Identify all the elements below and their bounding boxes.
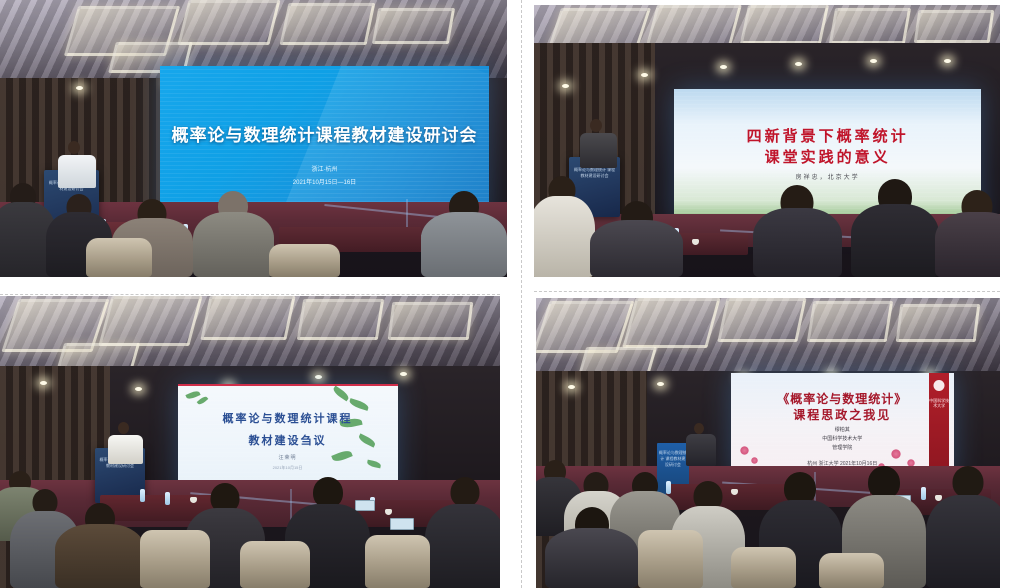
speaker-body xyxy=(686,434,716,466)
ceiling-light-panel xyxy=(829,8,911,44)
slide-byline-sub: 2021年10月15日 xyxy=(178,465,398,471)
ceiling-light-panel xyxy=(914,10,995,43)
ceiling-light-panel xyxy=(536,301,634,353)
speaker-head xyxy=(694,423,704,434)
ceiling-light-panel xyxy=(807,301,894,342)
slide-title-line1: 四新背景下概率统计 xyxy=(674,125,982,146)
ceiling-light-panel xyxy=(279,3,375,45)
slide-byline-org2: 管理学院 xyxy=(731,444,954,451)
laptop xyxy=(390,518,414,530)
banner-text: 概率论与数理统计 课程教材建设研讨会 xyxy=(659,450,688,468)
horizontal-separator-right xyxy=(534,291,1000,292)
ceiling-light-panel xyxy=(297,299,384,340)
ceiling-light-panel xyxy=(177,0,280,45)
ceiling-light-panel xyxy=(740,5,829,44)
ceiling-spotlight xyxy=(135,387,142,391)
speaker-head xyxy=(118,422,129,434)
audience-member xyxy=(545,507,638,588)
audience-member xyxy=(193,191,274,277)
ceiling-light-panel xyxy=(200,296,295,340)
slide-title-line2: 教材建设刍议 xyxy=(178,432,398,448)
slide-subtitle-location: 浙江·杭州 xyxy=(160,164,490,173)
photo-bottom-left[interactable]: 概率论与数理统计课程 教材建设刍议 汪荣明 2021年10月15日 概率论与数理… xyxy=(0,296,500,588)
ceiling-light-panel xyxy=(372,8,455,44)
water-bottle xyxy=(140,489,145,502)
ceiling-light-panel xyxy=(622,298,720,348)
audience-member xyxy=(851,179,940,277)
slide-byline: 汪荣明 xyxy=(178,454,398,461)
chair xyxy=(269,244,340,277)
university-logo-icon xyxy=(934,380,945,391)
vertical-separator xyxy=(521,0,522,588)
chair xyxy=(365,535,430,588)
ceiling-light-panel xyxy=(717,298,807,342)
ceiling-light-panel xyxy=(98,296,202,346)
slide-title: 概率论与数理统计课程教材建设研讨会 xyxy=(160,121,490,146)
chair xyxy=(731,547,796,588)
slide-title-line2: 课程思政之我见 xyxy=(731,406,954,423)
ceiling-spotlight xyxy=(76,86,83,90)
audience-member xyxy=(926,466,1000,588)
chair xyxy=(638,530,703,588)
photo-bottom-right[interactable]: 中国科学技术大学 《概率论与数理统计》 课程思政之我见 缪柏其 中国科学技术大学… xyxy=(536,298,1000,588)
photo-top-left[interactable]: 概率论与数理统计课程教材建设研讨会 浙江·杭州 2021年10月15日—16日 … xyxy=(0,0,507,277)
ceiling-spotlight xyxy=(657,382,664,386)
slide-title-line2: 课堂实践的意义 xyxy=(674,146,982,167)
ceiling-spotlight xyxy=(562,84,569,88)
ceiling-light-panel xyxy=(388,302,474,340)
speaker-body xyxy=(580,133,617,168)
ceiling-spotlight xyxy=(40,381,47,385)
audience-member xyxy=(935,190,1000,277)
speaker-body xyxy=(58,155,96,188)
speaker-body xyxy=(108,435,143,464)
audience-member xyxy=(55,503,145,588)
chair xyxy=(86,238,152,277)
ceiling-light-panel xyxy=(896,304,981,342)
water-bottle xyxy=(165,492,170,505)
slide-subtitle-date: 2021年10月15日—16日 xyxy=(160,177,490,186)
audience-member xyxy=(421,191,507,277)
horizontal-separator-left xyxy=(0,294,500,295)
chair xyxy=(240,541,310,588)
slide-byline-org1: 中国科学技术大学 xyxy=(731,435,954,442)
audience-member xyxy=(425,477,500,588)
audience-member xyxy=(590,201,683,277)
slide-byline-name: 缪柏其 xyxy=(731,426,954,433)
slide-title-line1: 概率论与数理统计课程 xyxy=(178,410,398,426)
chair xyxy=(140,530,210,588)
audience-member xyxy=(534,176,595,277)
ceiling-spotlight xyxy=(315,375,322,379)
photo-collage-page: 概率论与数理统计课程教材建设研讨会 浙江·杭州 2021年10月15日—16日 … xyxy=(0,0,1014,588)
photo-top-right[interactable]: 四新背景下概率统计 课堂实践的意义 房祥忠，北京大学 概率论与数理统计 课程教材… xyxy=(534,5,1000,277)
audience-member xyxy=(753,185,842,277)
chair xyxy=(819,553,884,588)
led-screen: 中国科学技术大学 《概率论与数理统计》 课程思政之我见 缪柏其 中国科学技术大学… xyxy=(731,373,954,477)
slide-title-line1: 《概率论与数理统计》 xyxy=(731,390,954,407)
ceiling-spotlight xyxy=(400,372,407,376)
